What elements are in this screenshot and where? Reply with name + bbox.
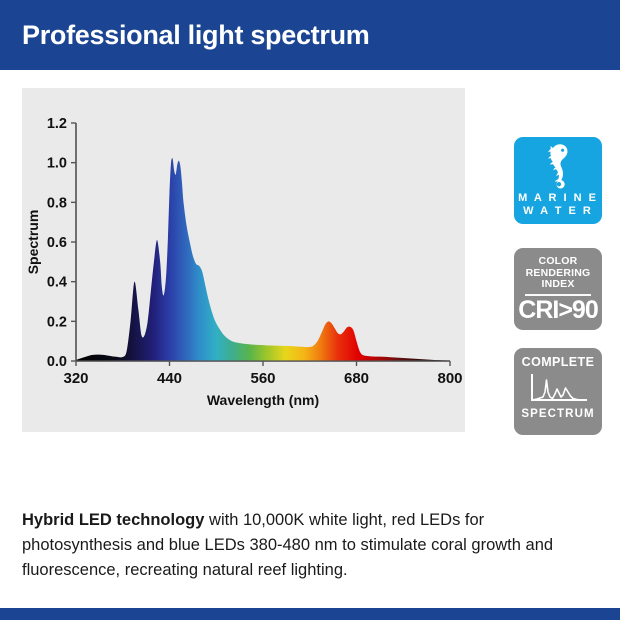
page-title: Professional light spectrum [22, 20, 369, 51]
spectrum-curve-icon [527, 372, 589, 404]
complete-label: COMPLETE [522, 355, 595, 369]
cri-divider [525, 294, 591, 296]
y-tick-label: 1.0 [47, 156, 67, 172]
feature-badges: M A R I N E W A T E R COLOR RENDERING IN… [514, 137, 602, 435]
y-tick-label: 0.6 [47, 235, 67, 251]
x-tick-label: 440 [157, 370, 182, 387]
description-paragraph: Hybrid LED technology with 10,000K white… [22, 508, 588, 583]
spectrum-chart: 0.00.20.40.60.81.01.2320440560680800Wave… [22, 88, 465, 432]
y-tick-label: 0.8 [47, 195, 67, 211]
footer-bar [0, 608, 620, 620]
cri-line-3: INDEX [541, 279, 574, 291]
spectrum-label: SPECTRUM [521, 408, 594, 420]
badge-marine-line-2: W A T E R [523, 206, 593, 217]
x-tick-label: 560 [250, 370, 275, 387]
x-tick-label: 320 [63, 370, 88, 387]
x-tick-label: 800 [437, 370, 462, 387]
y-tick-label: 0.0 [47, 354, 67, 370]
x-axis-label: Wavelength (nm) [207, 392, 319, 408]
cri-value: CRI>90 [518, 297, 597, 323]
y-tick-label: 1.2 [47, 116, 67, 132]
y-tick-label: 0.2 [47, 314, 67, 330]
y-tick-label: 0.4 [47, 275, 67, 291]
y-axis-label: Spectrum [25, 210, 41, 275]
badge-marine-line-1: M A R I N E [518, 193, 598, 204]
x-tick-label: 680 [344, 370, 369, 387]
page-header: Professional light spectrum [0, 0, 620, 70]
seahorse-icon [543, 143, 573, 191]
badge-marine-water[interactable]: M A R I N E W A T E R [514, 137, 602, 224]
description-lead: Hybrid LED technology [22, 511, 204, 529]
badge-color-rendering-index[interactable]: COLOR RENDERING INDEX CRI>90 [514, 248, 602, 330]
cri-line-1: COLOR [539, 256, 578, 268]
spectrum-chart-card: 0.00.20.40.60.81.01.2320440560680800Wave… [22, 88, 465, 432]
badge-complete-spectrum[interactable]: COMPLETE SPECTRUM [514, 348, 602, 435]
